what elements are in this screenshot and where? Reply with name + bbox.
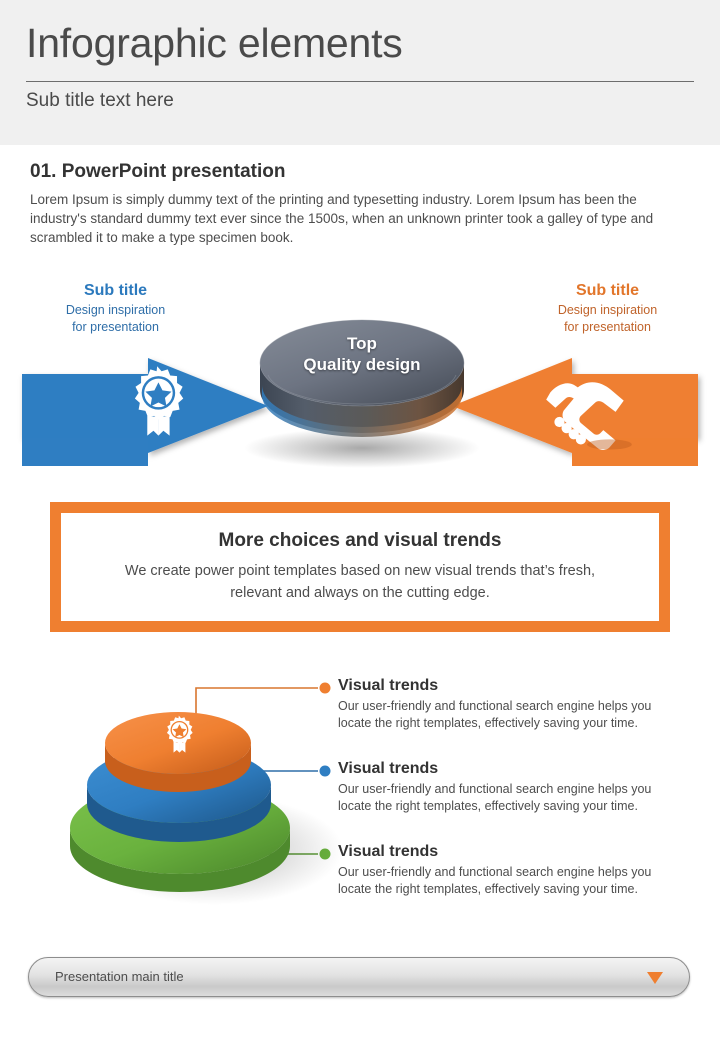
triangle-down-icon[interactable] <box>647 972 663 984</box>
section-heading: 01. PowerPoint presentation <box>30 161 286 183</box>
disc-diagram: Visual trends Our user-friendly and func… <box>0 660 720 920</box>
callout-body: We create power point templates based on… <box>100 560 620 604</box>
left-caption-title: Sub title <box>28 282 203 299</box>
page-subtitle: Sub title text here <box>26 90 174 112</box>
trend-title: Visual trends <box>338 759 668 778</box>
trend-title: Visual trends <box>338 676 668 695</box>
section-paragraph: Lorem Ipsum is simply dummy text of the … <box>30 190 690 247</box>
trend-item: Visual trends Our user-friendly and func… <box>338 759 668 815</box>
right-caption-line1: Design inspiration <box>520 302 695 319</box>
arrow-diagram: Top Quality design Sub title Design insp… <box>0 270 720 475</box>
trend-item: Visual trends Our user-friendly and func… <box>338 676 668 732</box>
page-header: Infographic elements Sub title text here <box>0 0 720 145</box>
left-caption: Sub title Design inspiration for present… <box>28 282 203 336</box>
trend-body: Our user-friendly and functional search … <box>338 864 668 898</box>
left-caption-line2: for presentation <box>28 319 203 336</box>
presentation-title-bar[interactable]: Presentation main title <box>28 957 690 997</box>
trend-item: Visual trends Our user-friendly and func… <box>338 842 668 898</box>
center-cylinder: Top Quality design <box>252 305 472 450</box>
callout-title: More choices and visual trends <box>219 530 502 552</box>
trend-title: Visual trends <box>338 842 668 861</box>
trend-body: Our user-friendly and functional search … <box>338 781 668 815</box>
left-caption-line1: Design inspiration <box>28 302 203 319</box>
presentation-title-label: Presentation main title <box>55 969 184 984</box>
header-divider <box>26 81 694 82</box>
left-arrow-shape <box>22 358 268 475</box>
page-title: Infographic elements <box>26 20 403 67</box>
right-caption-line2: for presentation <box>520 319 695 336</box>
callout-box: More choices and visual trends We create… <box>50 502 670 632</box>
right-caption-title: Sub title <box>520 282 695 299</box>
stacked-discs <box>40 660 350 920</box>
trend-body: Our user-friendly and functional search … <box>338 698 668 732</box>
callout-inner: More choices and visual trends We create… <box>58 510 662 624</box>
cylinder-shape <box>252 305 472 450</box>
right-caption: Sub title Design inspiration for present… <box>520 282 695 336</box>
